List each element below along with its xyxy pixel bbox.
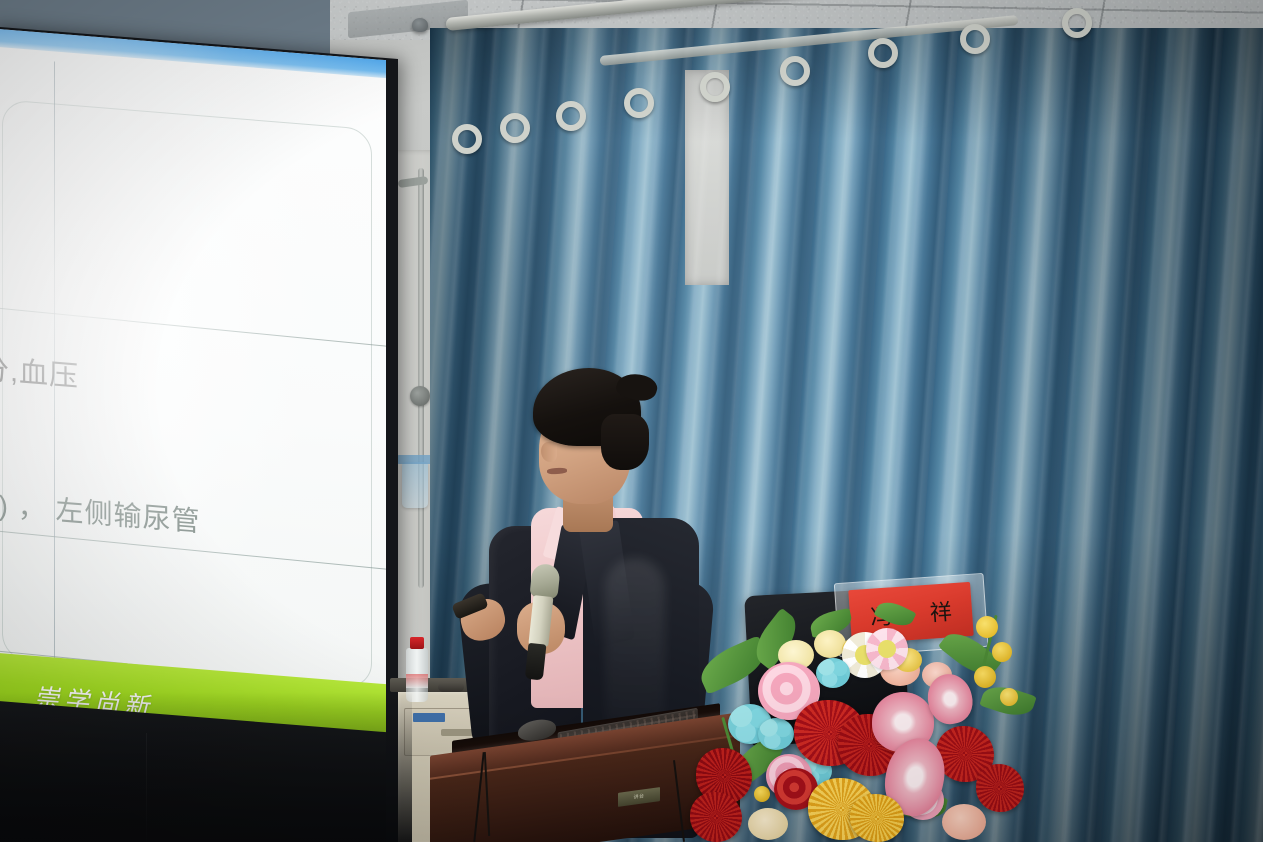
- curtain-grommet: [500, 113, 530, 143]
- presentation-photo: 分,血压 (-) ， 左侧输尿管 崇学尚新: [0, 0, 1263, 842]
- hair-side: [601, 414, 649, 470]
- curtain-grommet: [452, 124, 482, 154]
- pink-daisy: [866, 628, 908, 670]
- blue-hydrangea: [816, 658, 850, 688]
- curtain-grommet: [556, 101, 586, 131]
- flower-arrangement: [690, 596, 1050, 842]
- blue-hydrangea: [758, 718, 794, 750]
- yellow-blossom: [754, 786, 770, 802]
- microphone-base: [525, 643, 547, 681]
- curtain-grommet: [624, 88, 654, 118]
- yellow-blossom: [976, 616, 998, 638]
- yellow-blossom: [1000, 688, 1018, 706]
- yellow-blossom: [974, 666, 996, 688]
- yellow-blossom: [992, 642, 1012, 662]
- projection-screen: 分,血压 (-) ， 左侧输尿管 崇学尚新: [0, 28, 386, 750]
- sprinkler-head-icon: [412, 18, 428, 32]
- valve-icon: [410, 386, 430, 406]
- leaf: [874, 597, 917, 632]
- red-carnation: [976, 764, 1024, 812]
- slide-content-frame: [2, 99, 372, 689]
- wall-pipe: [418, 168, 424, 588]
- curtain-grommet: [1062, 8, 1092, 38]
- slide-text-line-1: 分,血压: [0, 346, 79, 396]
- microphone-body: [528, 595, 553, 647]
- microphone-head: [529, 563, 560, 600]
- curtain-grommet: [960, 24, 990, 54]
- water-bottle: [406, 648, 428, 702]
- bottle-cap: [410, 637, 424, 649]
- curtain-grommet: [780, 56, 810, 86]
- red-carnation: [690, 792, 742, 842]
- cream-blossom: [748, 808, 788, 840]
- curtain-grommet: [868, 38, 898, 68]
- nose: [541, 442, 557, 462]
- curtain-grommet: [700, 72, 730, 102]
- yellow-carnation: [850, 794, 904, 842]
- bottle-label: [406, 674, 428, 688]
- soap-dispenser: [402, 462, 428, 508]
- cabinet-seam: [146, 733, 147, 842]
- peach-blossom: [942, 804, 986, 840]
